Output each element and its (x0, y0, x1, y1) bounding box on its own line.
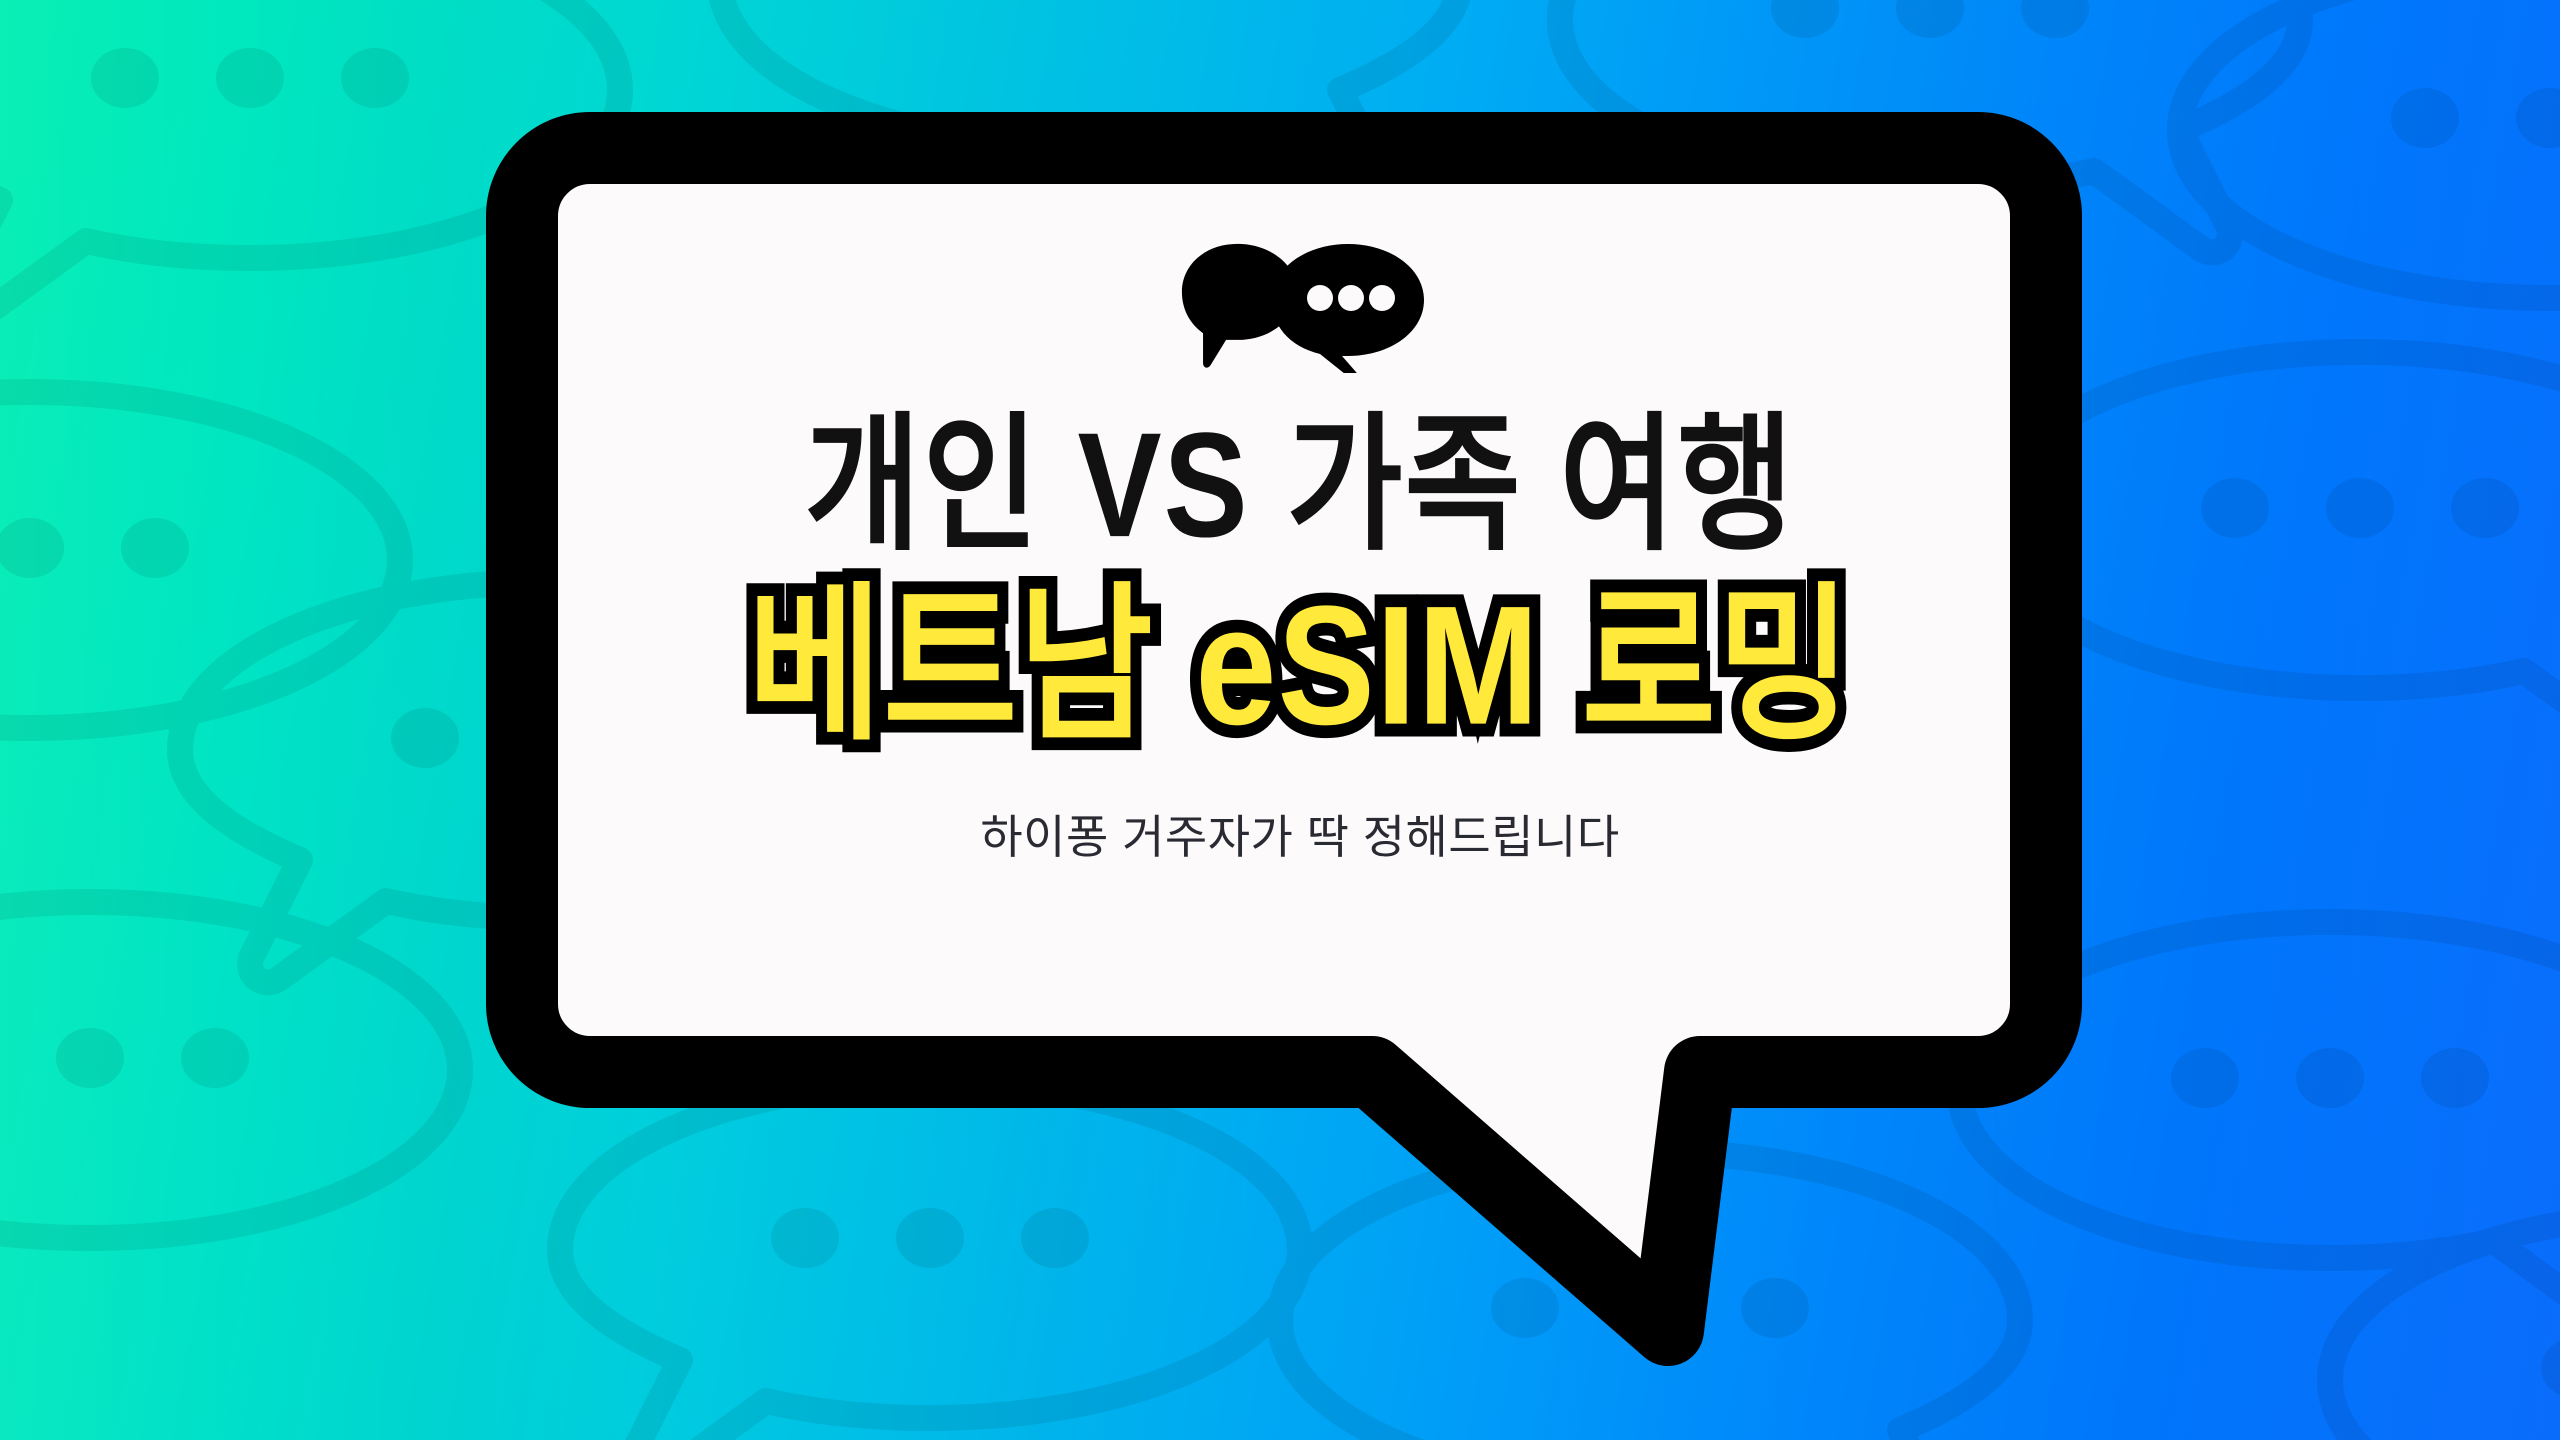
headline-accent: 베트남 eSIM 로밍 (748, 581, 1853, 750)
thumbnail-canvas: 개인 VS 가족 여행 베트남 eSIM 로밍 하이퐁 거주자가 딱 정해드립니… (0, 0, 2560, 1440)
subtitle: 하이퐁 거주자가 딱 정해드립니다 (980, 801, 1619, 867)
chat-bubbles-icon (1174, 238, 1426, 373)
card-content: 개인 VS 가족 여행 베트남 eSIM 로밍 하이퐁 거주자가 딱 정해드립니… (565, 160, 2035, 1060)
headline-accent-wrapper: 베트남 eSIM 로밍 (748, 581, 1853, 727)
headline-primary: 개인 VS 가족 여행 (805, 411, 1796, 560)
